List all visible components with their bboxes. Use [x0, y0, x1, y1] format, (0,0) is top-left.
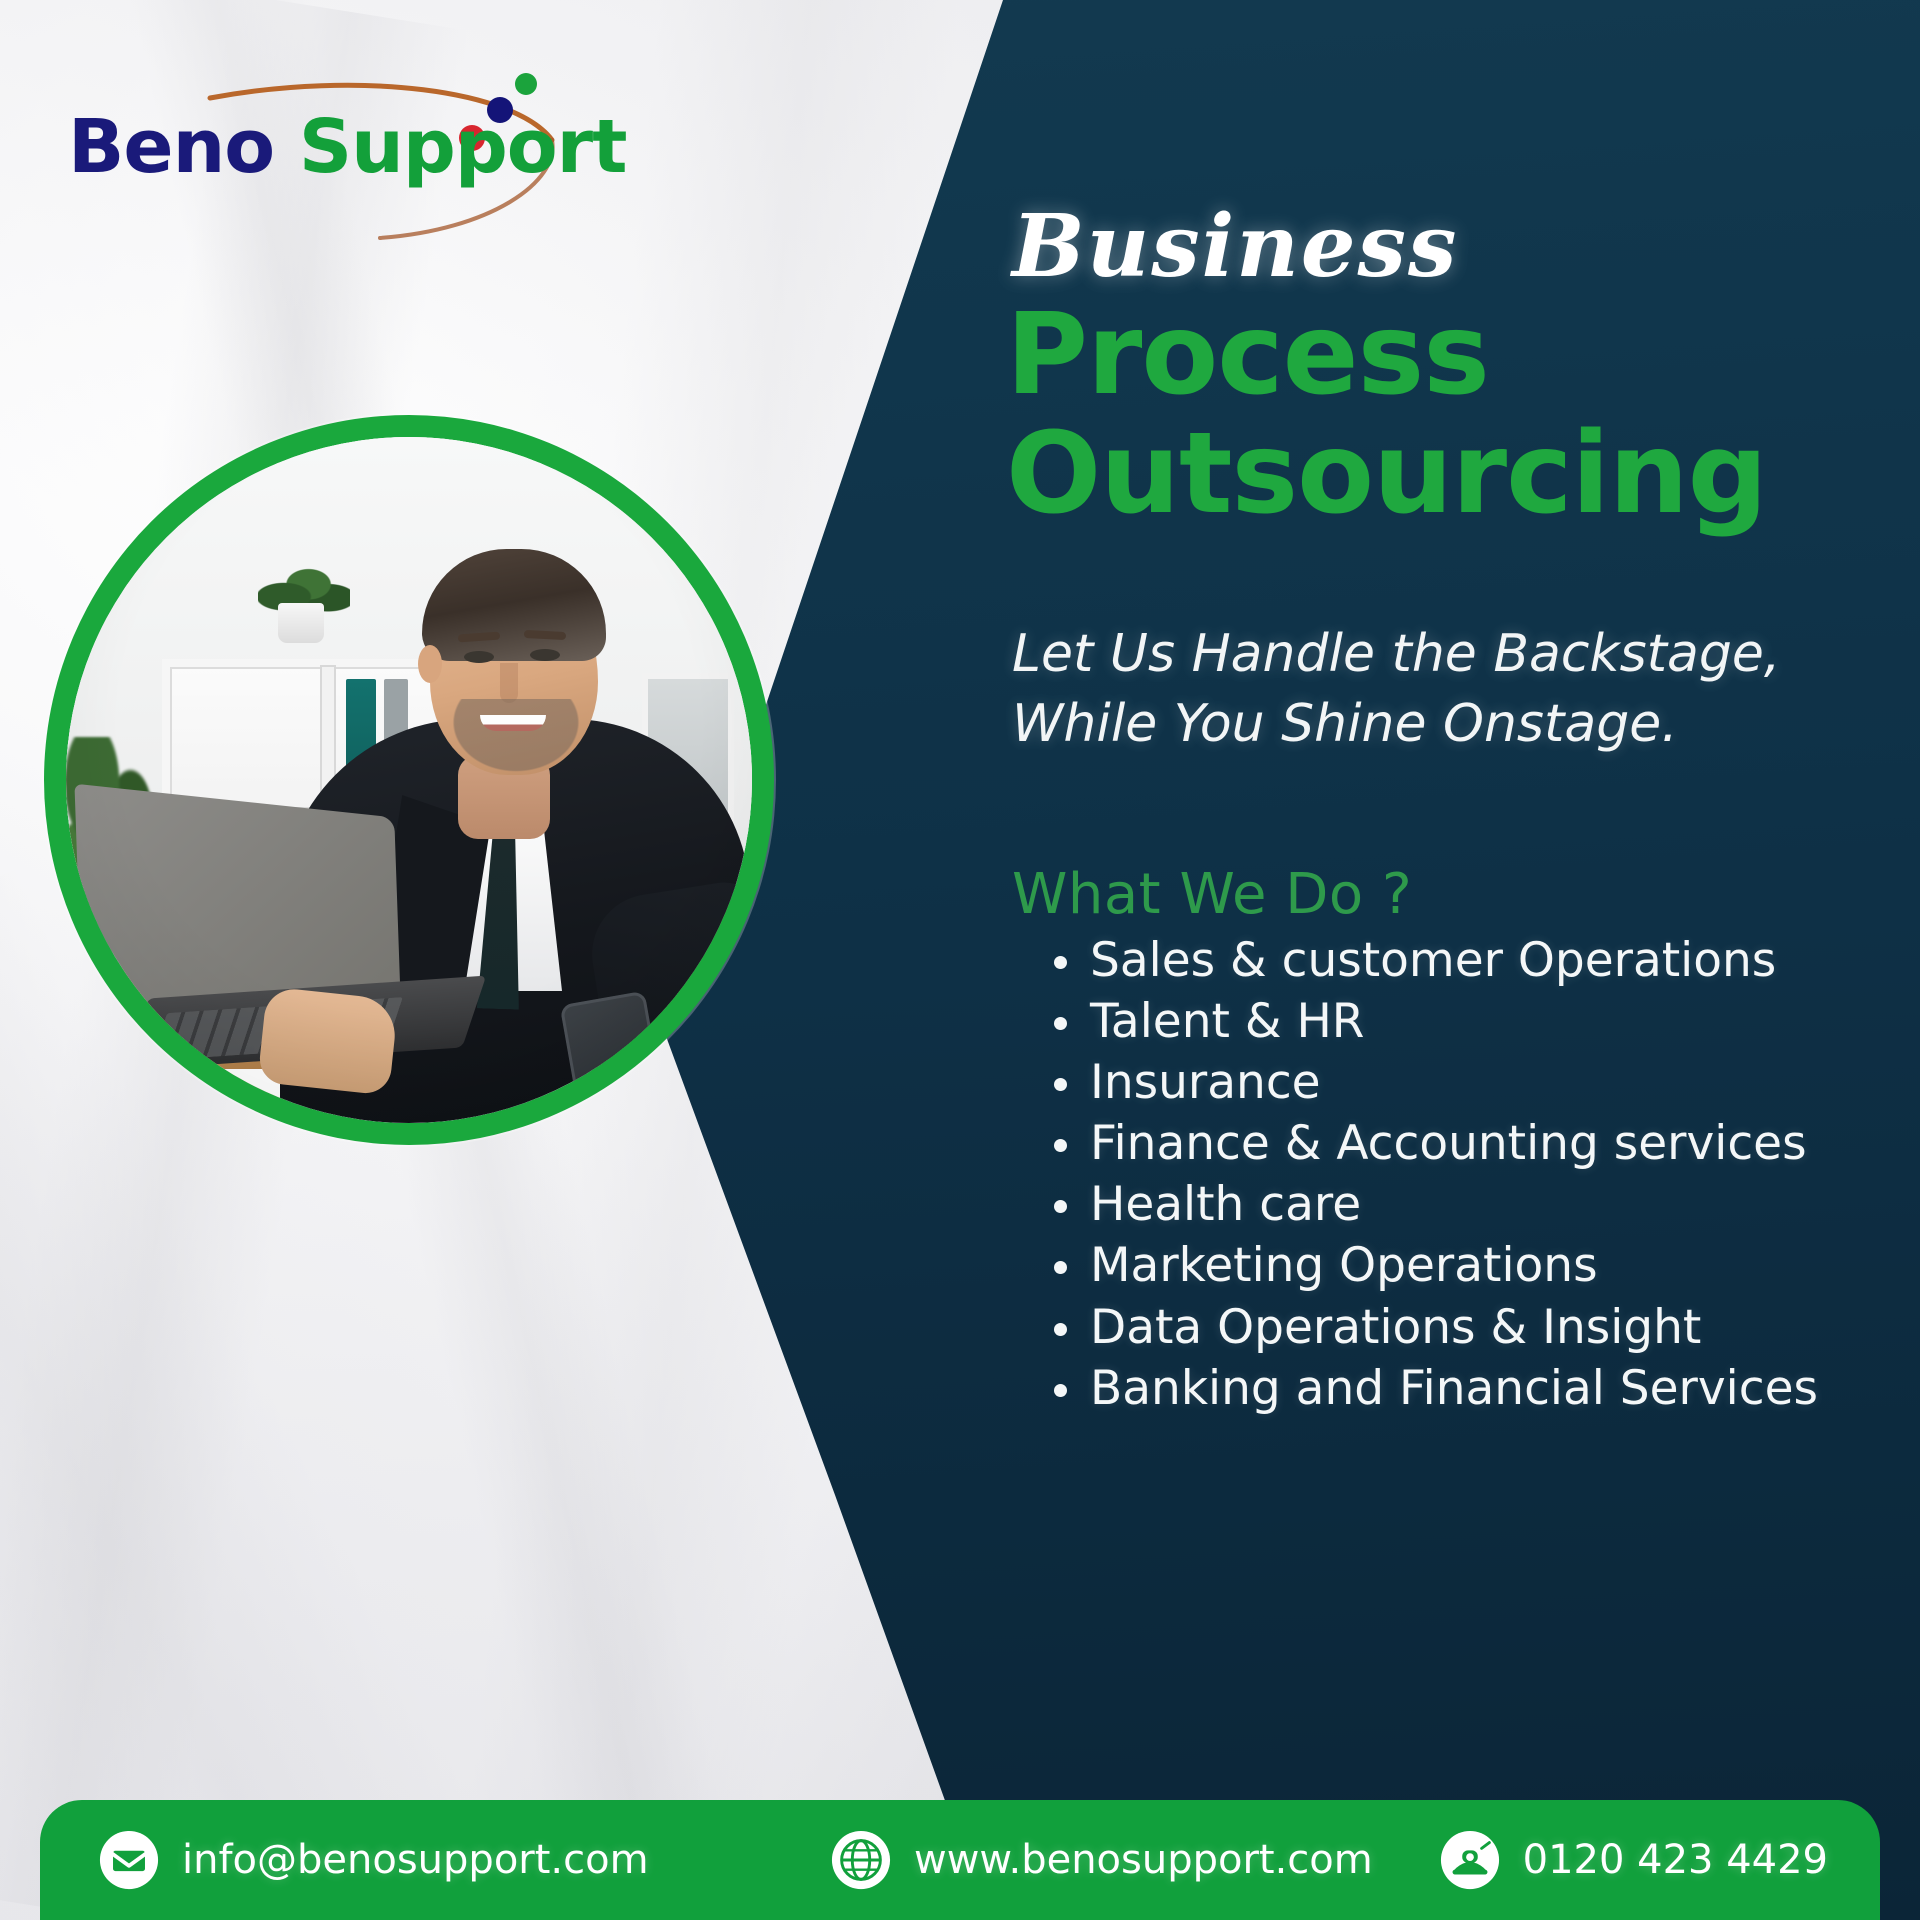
contact-website[interactable]: www.benosupport.com: [830, 1829, 1373, 1891]
list-item: Data Operations & Insight: [1090, 1297, 1818, 1358]
brand-logo[interactable]: Beno Support: [60, 62, 580, 202]
portrait-photo: [66, 437, 752, 1123]
globe-icon: [830, 1829, 892, 1891]
logo-word-beno: Beno: [68, 104, 274, 190]
contact-website-text: www.benosupport.com: [914, 1837, 1373, 1883]
contact-email[interactable]: info@benosupport.com: [98, 1829, 649, 1891]
contact-phone-text: 0120 423 4429: [1523, 1837, 1828, 1883]
poster-canvas: Beno Support: [0, 0, 1920, 1920]
list-item: Talent & HR: [1090, 991, 1818, 1052]
telephone-icon: [1439, 1829, 1501, 1891]
tagline-line-1: Let Us Handle the Backstage,: [1012, 620, 1892, 690]
list-item: Finance & Accounting services: [1090, 1113, 1818, 1174]
list-item: Sales & customer Operations: [1090, 930, 1818, 991]
content-column: Business Process Outsourcing Let Us Hand…: [1012, 0, 1920, 1920]
photo-vignette: [66, 437, 752, 1123]
contact-phone[interactable]: 0120 423 4429: [1439, 1829, 1828, 1891]
headline-line-2: Outsourcing: [1006, 415, 1920, 534]
contact-email-text: info@benosupport.com: [182, 1837, 649, 1883]
services-heading: What We Do ?: [1012, 862, 1412, 927]
services-list: Sales & customer Operations Talent & HR …: [1032, 930, 1818, 1419]
office-scene-illustration: [66, 437, 752, 1123]
list-item: Banking and Financial Services: [1090, 1358, 1818, 1419]
tagline: Let Us Handle the Backstage, While You S…: [1012, 620, 1892, 759]
envelope-icon: [98, 1829, 160, 1891]
list-item: Health care: [1090, 1174, 1818, 1235]
tagline-line-2: While You Shine Onstage.: [1012, 690, 1892, 760]
kicker-text: Business: [1012, 196, 1458, 297]
logo-wordmark: Beno Support: [68, 104, 627, 190]
contact-footer-bar: info@benosupport.com www.benosupport.com: [40, 1800, 1880, 1920]
headline-line-1: Process: [1006, 296, 1920, 415]
logo-word-support: Support: [299, 104, 627, 190]
list-item: Insurance: [1090, 1052, 1818, 1113]
page-title: Process Outsourcing: [1006, 296, 1920, 533]
list-item: Marketing Operations: [1090, 1235, 1818, 1296]
portrait-photo-ring: [44, 415, 774, 1145]
